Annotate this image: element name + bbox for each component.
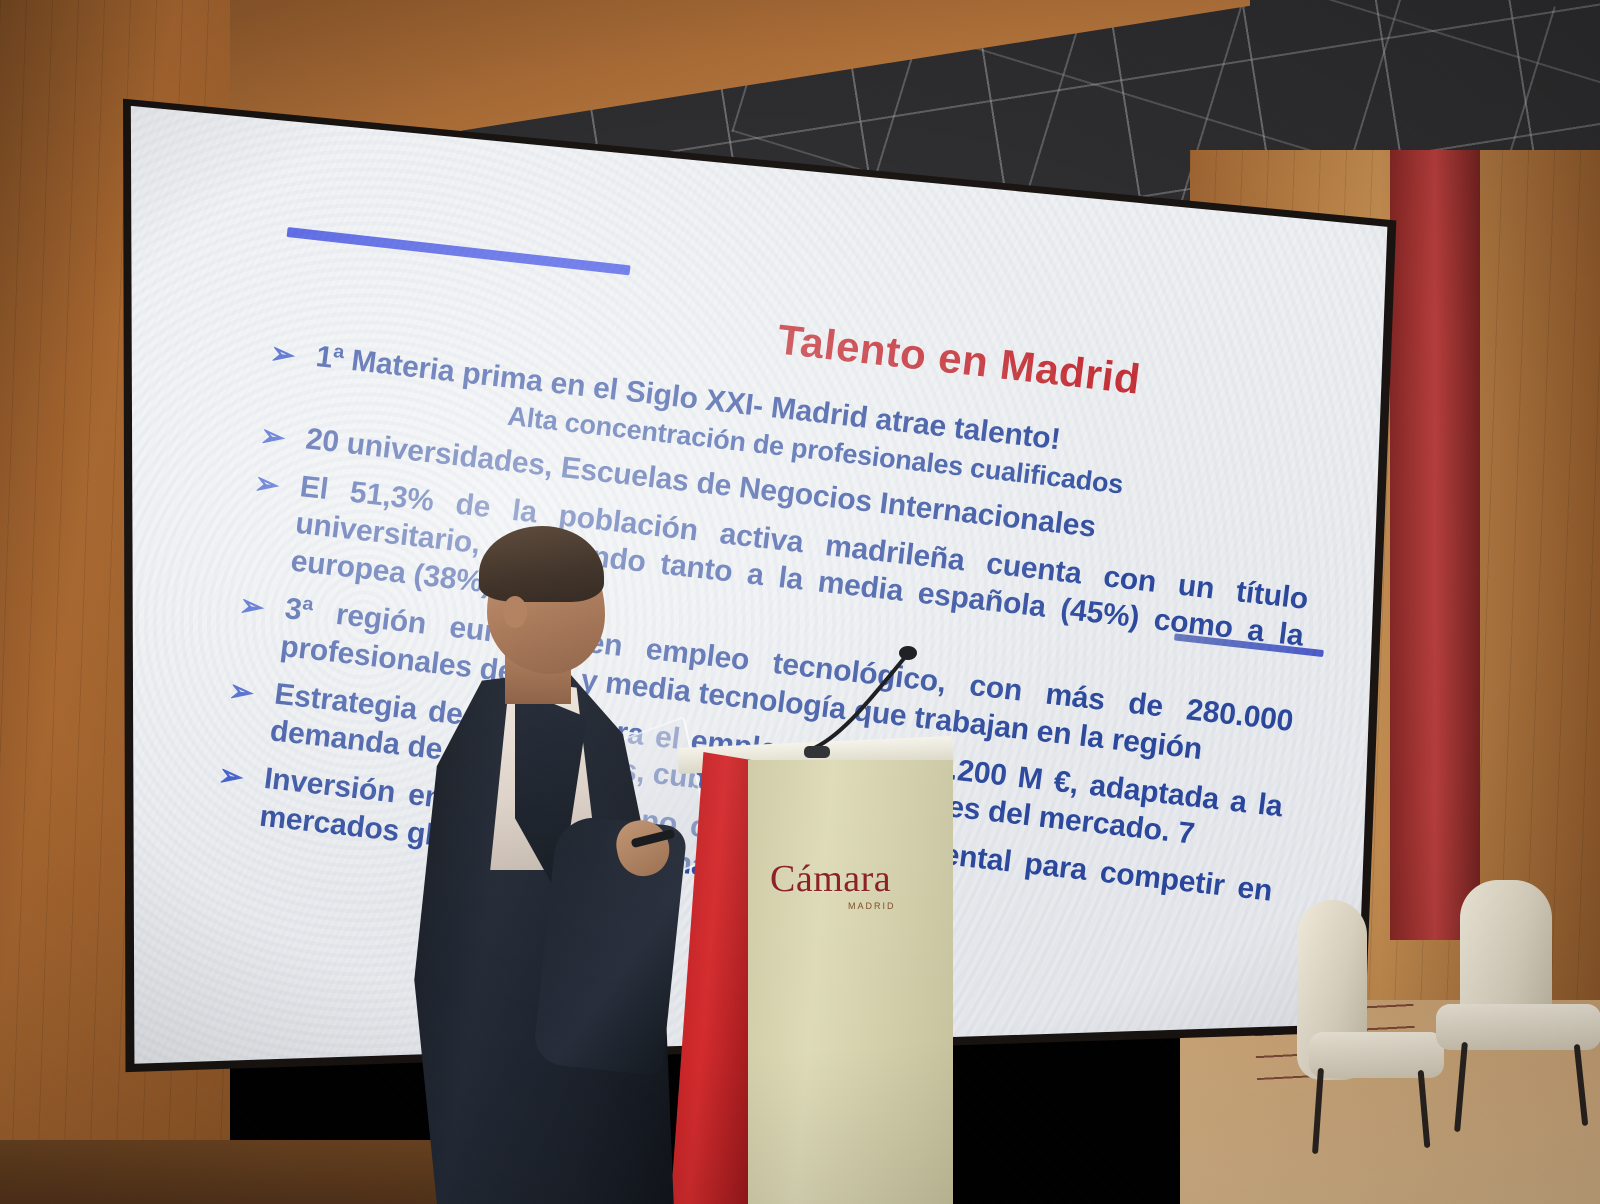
chair-leg (1574, 1044, 1589, 1126)
speaker-ear (503, 596, 527, 628)
chair-leg (1454, 1042, 1468, 1132)
slide: Talento en Madrid ➢ 1ª Materia prima en … (231, 196, 1354, 322)
slide-title: Talento en Madrid (775, 316, 1143, 404)
bullet-arrow-icon: ➢ (237, 587, 266, 627)
lectern: Cámara MADRID (690, 760, 950, 1204)
chair (1430, 880, 1600, 1120)
bullet-arrow-icon: ➢ (216, 757, 245, 797)
lectern-front-panel (748, 760, 953, 1204)
floor-left (0, 1140, 460, 1204)
bullet-arrow-icon: ➢ (268, 335, 297, 375)
photo-scene: Talento en Madrid ➢ 1ª Materia prima en … (0, 0, 1600, 1204)
chair-seat (1436, 1004, 1600, 1050)
logo-wordmark: Cámara (770, 860, 940, 898)
slide-accent-bar-top (287, 227, 631, 275)
speaker-hair (479, 526, 604, 602)
speaker-person (395, 520, 695, 1204)
chair-seat (1309, 1032, 1444, 1078)
bullet-arrow-icon: ➢ (258, 417, 287, 457)
camara-madrid-logo: Cámara MADRID (770, 860, 940, 911)
bullet-arrow-icon: ➢ (226, 672, 255, 712)
microphone-icon (802, 642, 952, 762)
bullet-arrow-icon: ➢ (252, 465, 281, 505)
logo-subtitle: MADRID (848, 901, 940, 911)
